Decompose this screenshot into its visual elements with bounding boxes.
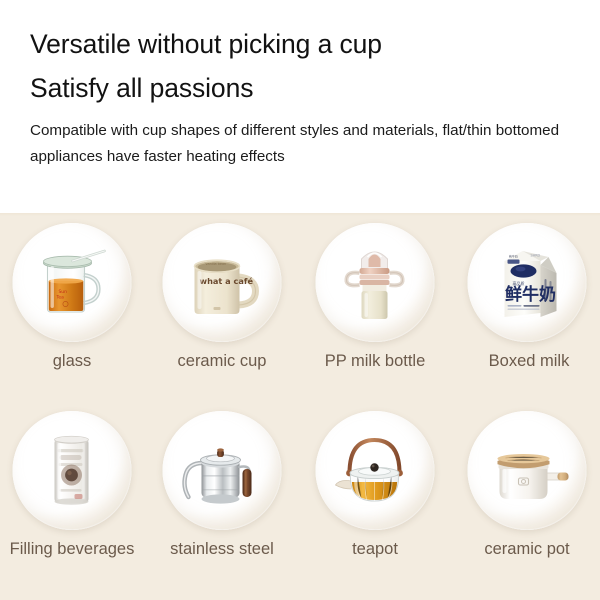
item-bubble: vanilla bean what a café: [163, 223, 282, 342]
item-bubble: [316, 223, 435, 342]
item-ceramic-pot[interactable]: ceramic pot: [452, 409, 600, 584]
baby-bottle-icon: [316, 223, 435, 342]
item-bubble: 纯牛奶 SHRD 高品质 鲜牛奶: [468, 223, 587, 342]
header-subcopy: Compatible with cup shapes of different …: [30, 118, 574, 170]
item-bubble: [316, 411, 435, 530]
item-row-2: Filling beverages: [0, 409, 600, 584]
item-filling-beverages[interactable]: Filling beverages: [0, 409, 147, 584]
glass-pitcher-icon: Sun Tea: [13, 223, 132, 342]
svg-text:what a café: what a café: [200, 276, 254, 286]
item-bubble: Sun Tea: [13, 223, 132, 342]
item-label: stainless steel: [147, 540, 297, 559]
item-label: ceramic cup: [147, 352, 297, 371]
item-pp-milk-bottle[interactable]: PP milk bottle: [300, 221, 450, 396]
item-glass[interactable]: Sun Tea glass: [0, 221, 147, 396]
item-bubble: [163, 411, 282, 530]
glass-teapot-icon: [316, 411, 435, 530]
item-label: glass: [0, 352, 147, 371]
item-bubble: [468, 411, 587, 530]
svg-text:SHRD: SHRD: [531, 253, 541, 257]
product-feature-image: Versatile without picking a cup Satisfy …: [0, 0, 600, 600]
headline-line-1: Versatile without picking a cup: [30, 26, 574, 62]
item-row-1: Sun Tea glass: [0, 221, 600, 396]
svg-text:纯牛奶: 纯牛奶: [509, 254, 518, 259]
beverage-can-icon: [13, 411, 132, 530]
item-label: ceramic pot: [452, 540, 600, 559]
item-bubble: [13, 411, 132, 530]
svg-text:Tea: Tea: [56, 295, 65, 301]
svg-text:vanilla bean: vanilla bean: [206, 262, 227, 266]
svg-text:Sun: Sun: [59, 289, 68, 295]
item-stainless-steel[interactable]: stainless steel: [147, 409, 297, 584]
ceramic-milk-pot-icon: [468, 411, 587, 530]
header-section: Versatile without picking a cup Satisfy …: [0, 0, 600, 213]
compatibility-panel: Sun Tea glass: [0, 213, 600, 600]
item-label: teapot: [300, 540, 450, 559]
item-label: Filling beverages: [0, 540, 161, 559]
headline-line-2: Satisfy all passions: [30, 70, 574, 106]
item-label: Boxed milk: [454, 352, 600, 371]
milk-carton-icon: 纯牛奶 SHRD 高品质 鲜牛奶: [468, 223, 587, 342]
item-label: PP milk bottle: [300, 352, 450, 371]
item-boxed-milk[interactable]: 纯牛奶 SHRD 高品质 鲜牛奶: [452, 221, 600, 396]
item-ceramic-cup[interactable]: vanilla bean what a café ceramic cup: [147, 221, 297, 396]
svg-text:鲜牛奶: 鲜牛奶: [505, 284, 556, 305]
ceramic-mug-icon: vanilla bean what a café: [163, 223, 282, 342]
gooseneck-kettle-icon: [163, 411, 282, 530]
item-teapot[interactable]: teapot: [300, 409, 450, 584]
